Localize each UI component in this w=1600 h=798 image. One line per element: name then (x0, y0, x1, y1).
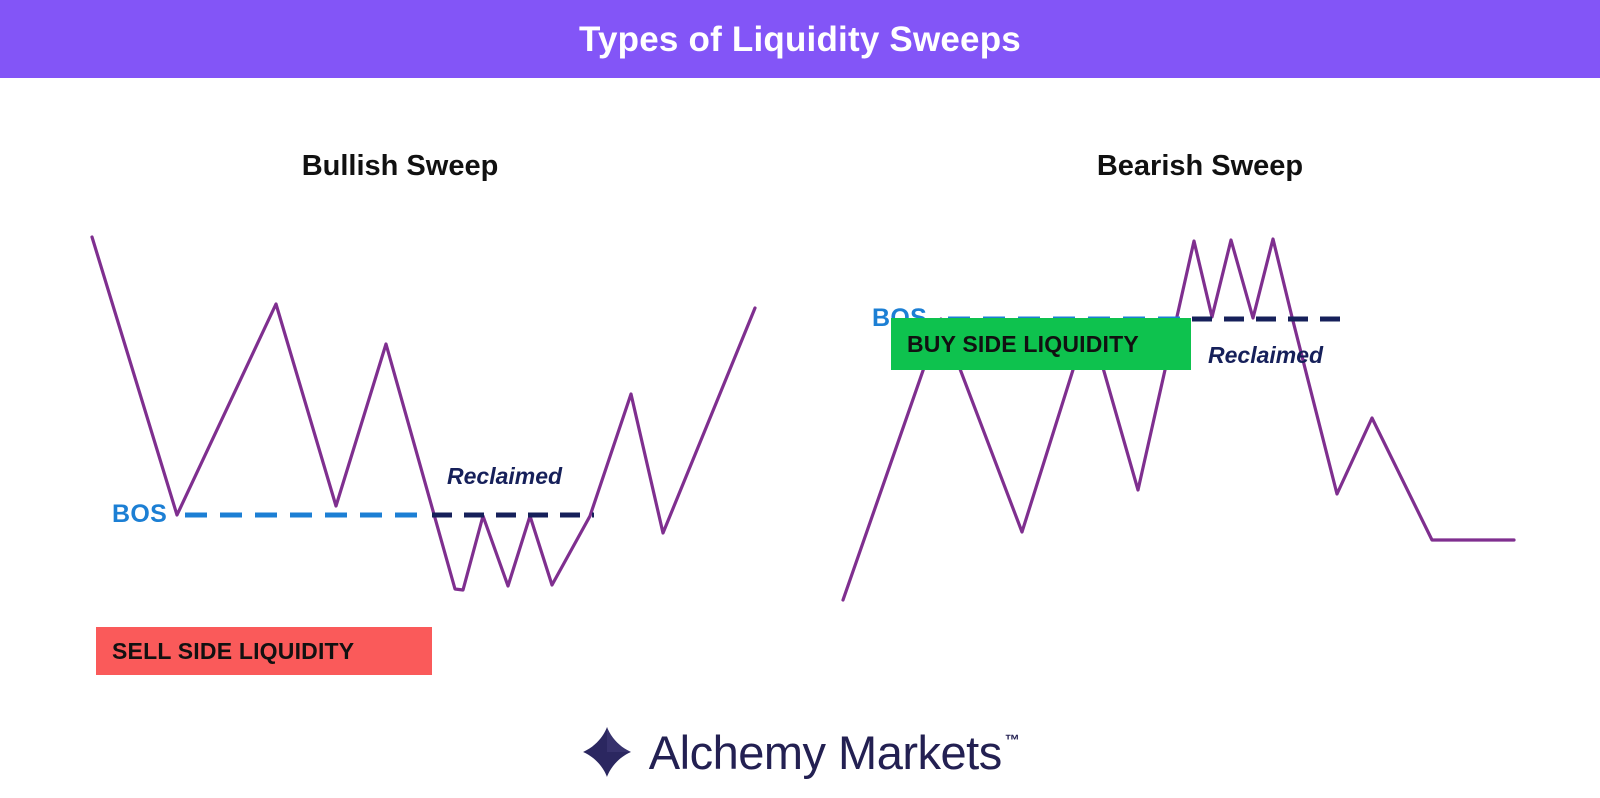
reclaimed-label-bullish: Reclaimed (447, 465, 562, 488)
reclaimed-label-bearish: Reclaimed (1208, 344, 1323, 367)
four-point-star-icon (581, 726, 633, 778)
buy-side-liquidity-badge: BUY SIDE LIQUIDITY (891, 318, 1191, 370)
bullish-sweep-chart (0, 78, 800, 638)
diagram-board: Bullish Sweep BOS Reclaimed Bearish Swee… (0, 78, 1600, 770)
price-line (843, 239, 1514, 600)
logo-wordmark: Alchemy Markets ™ (649, 729, 1019, 776)
price-line (92, 237, 755, 590)
bos-label-bullish: BOS (112, 502, 167, 527)
panel-bullish-sweep: Bullish Sweep BOS Reclaimed (0, 78, 800, 638)
sell-side-liquidity-badge: SELL SIDE LIQUIDITY (96, 627, 432, 675)
page-title: Types of Liquidity Sweeps (579, 22, 1021, 57)
logo-trademark: ™ (1005, 733, 1020, 748)
brand-logo: Alchemy Markets ™ (0, 706, 1600, 798)
header-bar: Types of Liquidity Sweeps (0, 0, 1600, 78)
logo-name: Alchemy Markets (649, 729, 1002, 776)
